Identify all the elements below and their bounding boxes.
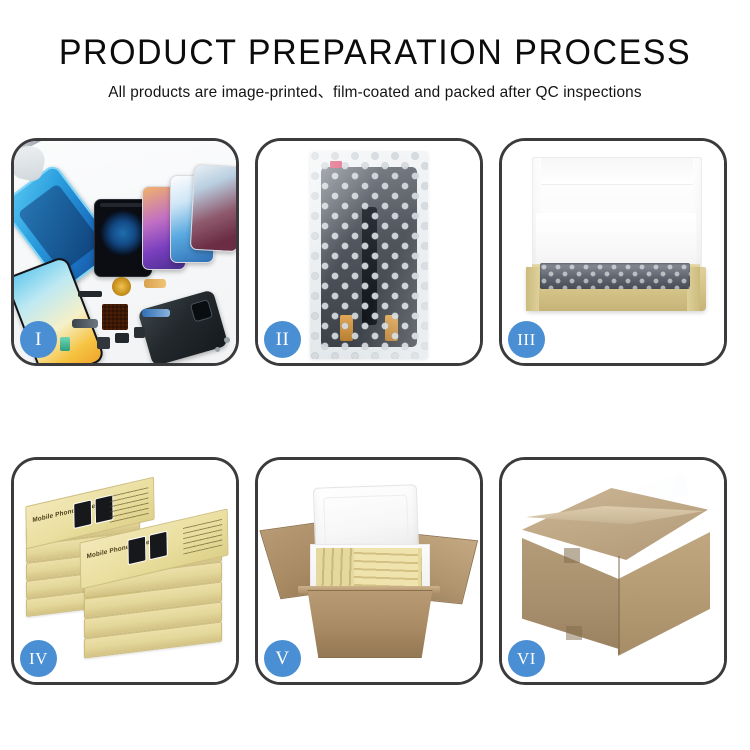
carton-mark-icon bbox=[564, 548, 580, 563]
product-preparation-process-page: PRODUCT PREPARATION PROCESS All products… bbox=[0, 0, 750, 750]
step-badge-3: III bbox=[508, 321, 545, 358]
screw-part-icon bbox=[215, 347, 220, 352]
box-spec-lines-icon bbox=[109, 485, 148, 523]
carton-mark-icon bbox=[566, 626, 582, 640]
process-step-panel-4: Mobile Phone Spare Parts Mobile Phone Sp… bbox=[11, 457, 239, 685]
step-badge-6: VI bbox=[508, 640, 545, 677]
copper-coil-part-icon bbox=[112, 277, 131, 296]
process-step-panel-6: VI bbox=[499, 457, 727, 685]
carton-front-panel-icon bbox=[302, 590, 438, 658]
box-stack-icon: Mobile Phone Spare Parts Mobile Phone Sp… bbox=[22, 474, 230, 674]
page-title: PRODUCT PREPARATION PROCESS bbox=[11, 0, 739, 71]
red-phone-screen-icon bbox=[190, 164, 236, 252]
box-window-icon bbox=[73, 499, 92, 529]
small-component-icon bbox=[115, 333, 129, 343]
blue-flex-cable-part-icon bbox=[142, 309, 170, 317]
battery-connector-part-icon bbox=[60, 337, 70, 351]
step-badge-5: V bbox=[264, 640, 301, 677]
speaker-part-icon bbox=[78, 291, 102, 297]
step-badge-1: I bbox=[20, 321, 57, 358]
process-step-panel-2: II bbox=[255, 138, 483, 366]
process-step-grid: I II bbox=[11, 138, 739, 685]
bubble-wrapped-items-icon bbox=[540, 263, 690, 289]
screw-part-icon bbox=[224, 337, 230, 343]
process-step-panel-5: V bbox=[255, 457, 483, 685]
chip-grid-part-icon bbox=[102, 304, 128, 330]
bubble-wrap-pouch-icon bbox=[310, 151, 428, 359]
small-component-icon bbox=[134, 327, 145, 338]
box-spec-lines-icon bbox=[183, 517, 222, 555]
box-side-left-icon bbox=[526, 267, 539, 311]
step-badge-4: IV bbox=[20, 640, 57, 677]
box-window-icon bbox=[127, 535, 146, 565]
page-subtitle: All products are image-printed、film-coat… bbox=[6, 71, 745, 102]
ribbon-cable-part-icon bbox=[72, 319, 98, 328]
box-window-icon bbox=[149, 531, 168, 561]
plastic-sheen-icon bbox=[310, 151, 428, 359]
process-step-panel-3: III bbox=[499, 138, 727, 366]
step-badge-2: II bbox=[264, 321, 301, 358]
flex-cable-part-icon bbox=[144, 279, 166, 288]
carton-corner-seam-icon bbox=[618, 556, 620, 654]
small-component-icon bbox=[97, 337, 110, 349]
process-step-panel-1: I bbox=[11, 138, 239, 366]
page-header: PRODUCT PREPARATION PROCESS All products… bbox=[0, 0, 750, 130]
